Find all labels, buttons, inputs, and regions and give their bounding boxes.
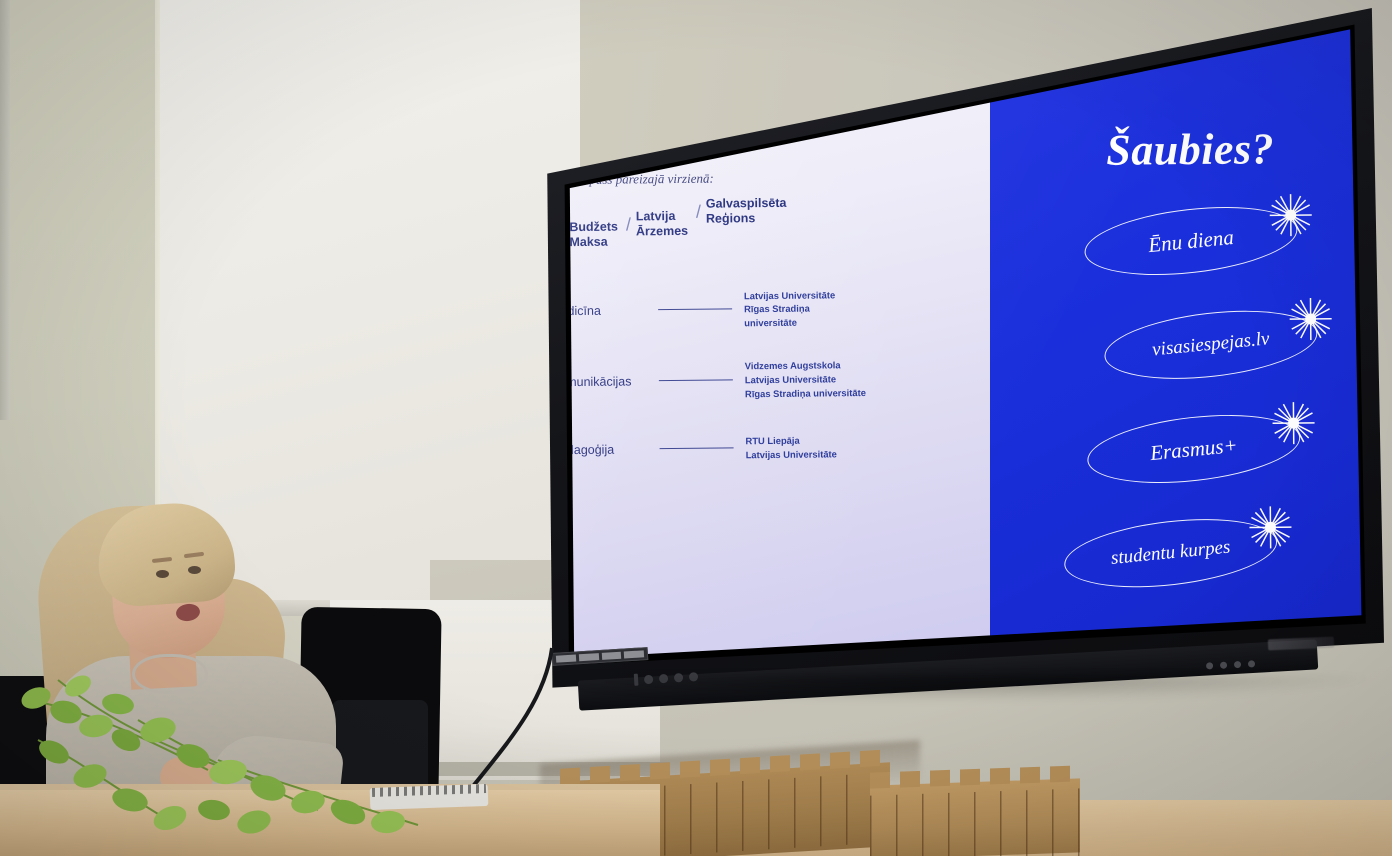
ring-bullet-icon [516,303,527,320]
university-item: Vidzemes Augstskola [745,360,841,372]
display-shadow [520,676,1380,702]
column-budzets-label: Budžets Maksa [569,220,618,251]
university-item: Latvijas Universitāte [745,373,836,385]
button-key[interactable] [579,653,599,661]
column-latvija: / Latvija Ārzemes [626,209,688,240]
photo-scene: Studiju izvēle Kompass pareizajā virzien… [0,0,1392,856]
ivy-plant [18,660,438,840]
button-key[interactable] [601,652,621,660]
sparkle-star-icon [1270,400,1316,446]
bubble-erasmus: Erasmus+ [1087,416,1302,482]
eye [156,570,169,578]
plywood-panel-right [870,778,1080,856]
row-connector-line [658,309,732,311]
column-line: Latvija [636,209,676,223]
university-item: Latvijas Universitāte [746,448,837,460]
wall-left-edge [0,0,10,420]
ivy-foliage [18,660,438,840]
plywood-slots [870,788,1080,856]
sparkle-star-icon [1268,192,1314,238]
university-item: Latvijas Universitāte [744,289,835,301]
university-item: Rīgas Stradiņa [744,303,810,315]
sparkle-star-icon [1247,504,1293,550]
control-key[interactable] [1206,662,1213,669]
university-item: universitāte [744,316,797,328]
column-latvija-label: Latvija Ārzemes [636,209,688,240]
row-connector-line [660,448,734,450]
row-connector-line [659,380,733,382]
control-key[interactable] [1248,660,1255,667]
column-line: Galvaspilsēta [706,196,787,211]
display-screen[interactable]: Studiju izvēle Kompass pareizajā virzien… [516,8,1384,698]
column-galvaspilseta-label: Galvaspilsēta Reģions [706,196,787,227]
university-item: RTU Liepāja [745,435,799,447]
slide-row-komunikacijas: Komunikācijas Vidzemes Augstskola Latvij… [551,357,991,402]
column-line: Budžets [569,220,618,235]
column-line: Maksa [569,235,607,249]
slide-row-pedagogija: Pedagoģija RTU Liepāja Latvijas Universi… [551,432,991,464]
bubble-enu-diena: Ēnu diena [1084,208,1299,274]
control-key[interactable] [1220,661,1227,668]
column-line: Reģions [706,211,755,226]
row-universities: Vidzemes Augstskola Latvijas Universitāt… [745,358,866,400]
interactive-display[interactable]: Studiju izvēle Kompass pareizajā virzien… [516,8,1384,698]
slide-rows: Medicīna Latvijas Universitāte Rīgas Str… [550,286,992,464]
eye [188,566,201,574]
button-key[interactable] [556,654,576,662]
slide-right-content: Šaubies? Ēnu diena [997,36,1384,679]
sparkle-star-icon [1287,296,1333,342]
saubies-heading: Šaubies? [998,122,1382,176]
control-key[interactable] [1234,660,1241,667]
bubble-visasiespejas: visasiespejas.lv [1104,312,1319,378]
slash-icon: / [626,215,631,246]
column-line: Ārzemes [636,224,688,239]
slide-row-medicina: Medicīna Latvijas Universitāte Rīgas Str… [550,286,990,331]
row-universities: Latvijas Universitāte Rīgas Stradiņa uni… [744,288,836,330]
row-universities: RTU Liepāja Latvijas Universitāte [745,434,836,462]
button-key[interactable] [624,650,644,658]
display-brand-logo [1268,637,1334,651]
university-item: Rīgas Stradiņa universitāte [745,387,866,399]
column-galvaspilseta: / Galvaspilsēta Reģions [696,196,787,227]
slide-columns: / Budžets Maksa / Latvija Ārzemes [549,194,990,251]
slash-icon: / [696,203,701,234]
bubble-studentu-kurpes: studentu kurpes [1063,520,1278,586]
